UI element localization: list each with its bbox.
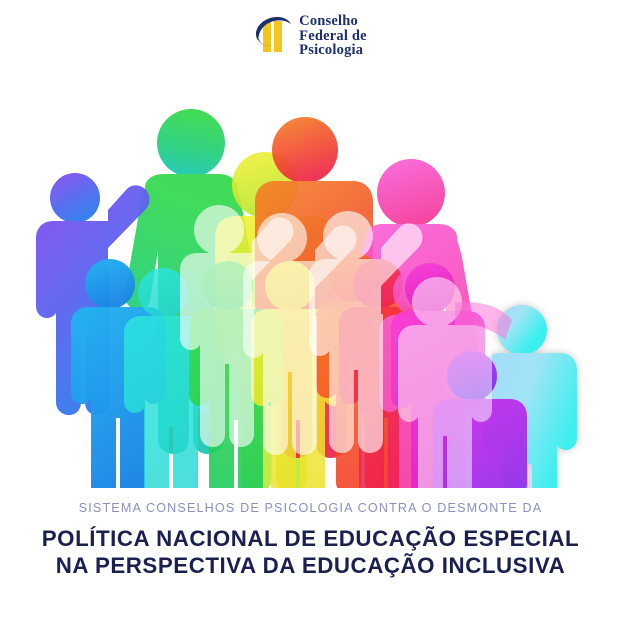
cfp-logo-wordmark: Conselho Federal de Psicologia xyxy=(299,14,367,58)
poster-canvas: Conselho Federal de Psicologia xyxy=(0,0,621,621)
caption-block: SISTEMA CONSELHOS DE PSICOLOGIA CONTRA O… xyxy=(0,500,621,579)
logo-line-3: Psicologia xyxy=(299,43,367,58)
logo-line-2: Federal de xyxy=(299,29,367,44)
caption-eyebrow: SISTEMA CONSELHOS DE PSICOLOGIA CONTRA O… xyxy=(0,500,621,516)
caption-headline: POLÍTICA NACIONAL DE EDUCAÇÃO ESPECIAL N… xyxy=(0,525,621,579)
logo-line-1: Conselho xyxy=(299,14,367,29)
cfp-logo: Conselho Federal de Psicologia xyxy=(0,14,621,58)
inclusive-people-group-illustration xyxy=(0,88,621,488)
headline-line-2: NA PERSPECTIVA DA EDUCAÇÃO INCLUSIVA xyxy=(0,552,621,579)
cfp-logo-mark-icon xyxy=(254,14,292,58)
headline-line-1: POLÍTICA NACIONAL DE EDUCAÇÃO ESPECIAL xyxy=(0,525,621,552)
